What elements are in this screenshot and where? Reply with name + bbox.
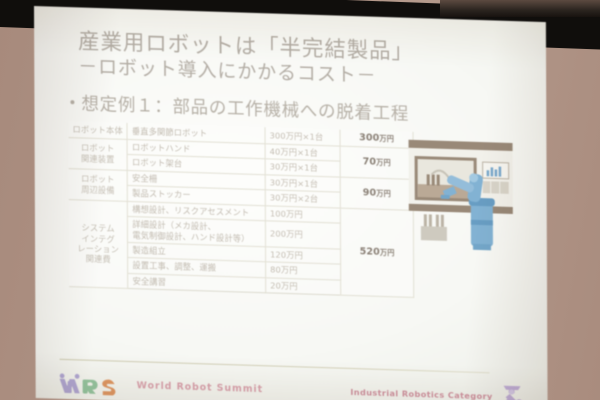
group-label-robot-peripheral: ロボット 周辺設備 [69,168,128,201]
group-total-suffix: 万円 [376,158,391,167]
robot-machine-tending-illustration [403,134,526,256]
projection-screen: 産業用ロボットは「半完結製品」 －ロボット導入にかかるコスト－ 想定例１：部品の… [34,6,548,400]
slide-title: 産業用ロボットは「半完結製品」 －ロボット導入にかかるコスト－ [78,29,520,93]
cost-breakdown-table: ロボット本体 垂直多関節ロボット 300万円×1台 300万円 ロボット 関連装… [68,121,414,298]
group-label-line-2: 関連装置 [73,153,123,165]
cost-table-body: ロボット本体 垂直多関節ロボット 300万円×1台 300万円 ロボット 関連装… [68,121,413,298]
wrs-logo-icon [58,372,128,396]
group-total-suffix: 万円 [379,134,394,143]
subtitle-text: 想定例１：部品の工作機械への脱着工程 [81,90,409,125]
wrs-logo-letter-r [83,380,98,394]
wrs-logo-letter-w [60,373,80,393]
group-total-value: 300 [359,132,379,144]
category-branding: Industrial Robotics Category [350,378,527,400]
group-total-value: 520 [360,246,380,258]
group-label-line-2: 周辺設備 [73,184,123,196]
wrs-logo-letter-s [102,379,115,396]
group-label-line-3: レーション [73,243,123,255]
robot-arm-icon [498,383,528,400]
bullet-dot-icon [70,100,74,104]
group-total-suffix: 万円 [376,188,391,197]
wrs-logo-text: World Robot Summit [137,380,263,395]
group-total-value: 90 [363,187,377,198]
item-unit-cost: 200万円 [265,221,340,249]
category-label: Industrial Robotics Category [350,387,492,400]
group-total-suffix: 万円 [380,248,395,257]
group-label-system-integration: システム インテグ レーション 関連費 [69,199,128,289]
group-label-robot-body: ロボット本体 [68,121,127,139]
item-name: 安全講習 [128,273,266,293]
illustration-svg [403,134,526,256]
wrs-branding: World Robot Summit [58,372,264,400]
group-label-line-4: 関連費 [73,254,123,266]
presentation-slide: 産業用ロボットは「半完結製品」 －ロボット導入にかかるコスト－ 想定例１：部品の… [34,6,548,400]
group-label-robot-related: ロボット 関連装置 [69,137,128,170]
item-unit-cost: 20万円 [266,278,341,296]
group-total-value: 70 [363,156,377,167]
screen-frame-shadow [440,0,600,17]
